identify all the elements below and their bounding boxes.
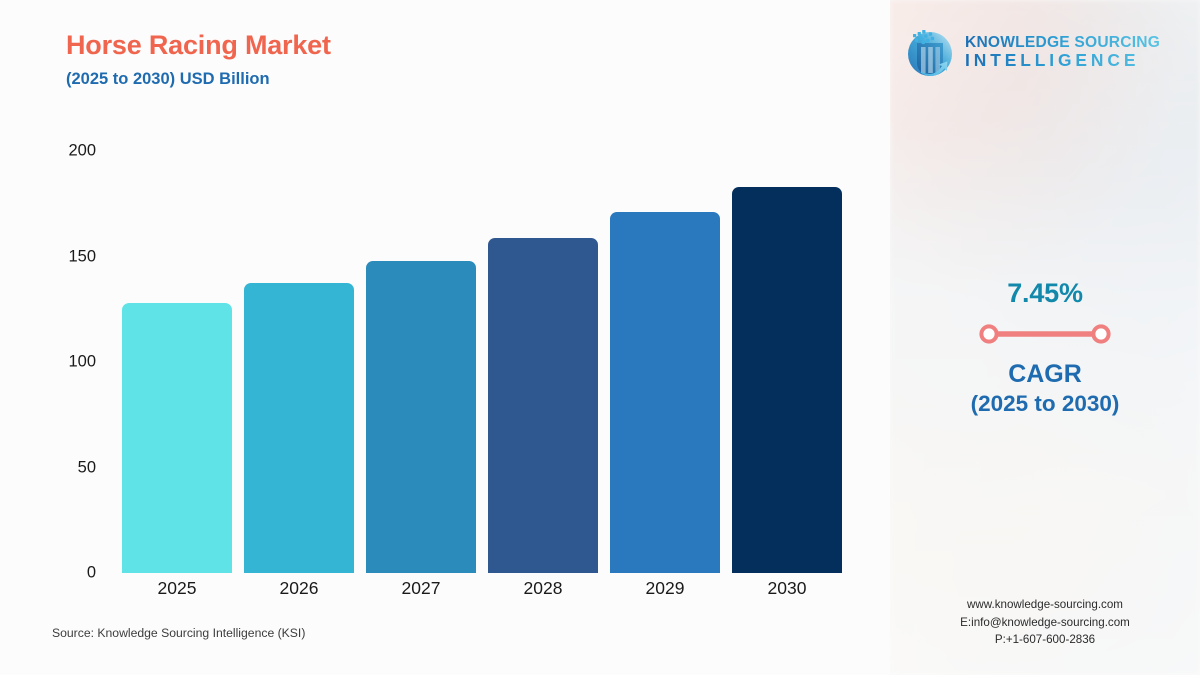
cagr-label: CAGR [890,358,1200,391]
x-axis-tick: 2025 [122,578,232,599]
contact-block: www.knowledge-sourcing.com E:info@knowle… [890,596,1200,649]
chart-subtitle: (2025 to 2030) USD Billion [66,70,331,89]
source-note: Source: Knowledge Sourcing Intelligence … [52,626,305,640]
knowledge-sourcing-emblem-icon [904,26,956,78]
bar-series [122,151,852,573]
contact-website[interactable]: www.knowledge-sourcing.com [890,596,1200,614]
x-axis-tick: 2028 [488,578,598,599]
y-axis-tick: 50 [78,458,96,477]
x-axis: 202520262027202820292030 [122,578,852,599]
y-axis-tick: 150 [68,247,96,266]
bar-2026[interactable] [244,283,354,573]
x-axis-tick: 2026 [244,578,354,599]
y-axis-tick: 0 [87,564,96,583]
logo-line-1: KNOWLEDGE SOURCING [965,35,1160,51]
y-axis: 050100150200 [0,151,110,573]
plot-area [122,151,852,573]
chart-header: Horse Racing Market (2025 to 2030) USD B… [66,30,331,89]
brand-panel: KNOWLEDGE SOURCING INTELLIGENCE 7.45% CA… [890,0,1200,675]
market-chart-poster: Horse Racing Market (2025 to 2030) USD B… [0,0,1200,675]
cagr-connector-icon [975,323,1115,345]
bar-2030[interactable] [732,187,842,573]
bar-2028[interactable] [488,238,598,573]
x-axis-tick: 2030 [732,578,842,599]
cagr-value: 7.45% [890,278,1200,309]
y-axis-tick: 100 [68,353,96,372]
chart-panel: Horse Racing Market (2025 to 2030) USD B… [0,0,890,675]
bar-2027[interactable] [366,261,476,573]
contact-email[interactable]: E:info@knowledge-sourcing.com [890,614,1200,632]
page-title: Horse Racing Market [66,30,331,61]
y-axis-tick: 200 [68,142,96,161]
logo-line-2: INTELLIGENCE [965,51,1160,69]
x-axis-tick: 2027 [366,578,476,599]
logo-wordmark: KNOWLEDGE SOURCING INTELLIGENCE [965,35,1160,69]
bar-2025[interactable] [122,303,232,573]
cagr-range: (2025 to 2030) [890,391,1200,417]
bar-2029[interactable] [610,212,720,573]
cagr-callout: 7.45% CAGR (2025 to 2030) [890,278,1200,417]
company-logo: KNOWLEDGE SOURCING INTELLIGENCE [904,26,1160,78]
x-axis-tick: 2029 [610,578,720,599]
contact-phone: P:+1-607-600-2836 [890,631,1200,649]
